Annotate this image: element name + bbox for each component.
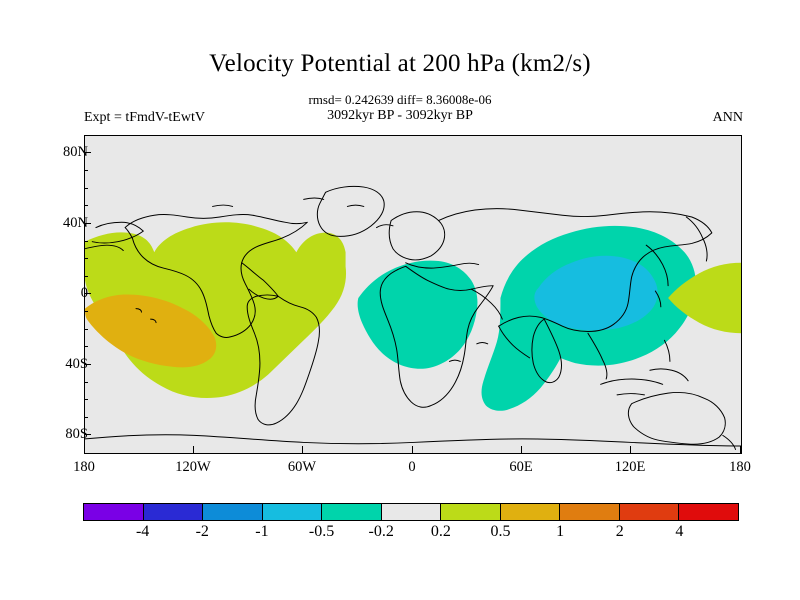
x-tick-120w [193,446,194,453]
y-tick-minor [84,258,88,259]
x-tick-0 [412,446,413,453]
y-axis-label-80s: 80S [65,426,88,443]
colorbar-segment [84,504,143,520]
x-tick-60w [302,446,303,453]
x-axis-label-60w: 60W [288,459,316,476]
y-tick-minor [84,382,88,383]
x-tick-180e [740,446,741,453]
x-axis-label-180w: 180 [73,459,95,476]
period-label: 3092kyr BP - 3092kyr BP [0,108,800,124]
y-tick-minor [84,417,88,418]
colorbar-segment [321,504,381,520]
colorbar-tick: -0.2 [369,523,394,541]
statistics-line: rmsd= 0.242639 diff= 8.36008e-06 [0,92,800,108]
x-tick-60e [521,446,522,453]
colorbar-tick-labels: -4-2-1-0.5-0.20.20.5124 [83,521,739,543]
colorbar-segments [83,503,739,521]
colorbar-segment [381,504,441,520]
x-axis-label-60e: 60E [509,459,532,476]
x-tick-120e [630,446,631,453]
colorbar-tick: -0.5 [309,523,334,541]
y-tick-minor [84,188,88,189]
colorbar-segment [262,504,322,520]
colorbar-tick: 4 [675,523,683,541]
page-title: Velocity Potential at 200 hPa (km2/s) [0,50,800,78]
y-tick-minor [84,276,88,277]
colorbar-tick: 0.5 [490,523,510,541]
colorbar [83,503,739,521]
colorbar-segment [678,504,738,520]
y-tick-minor [84,241,88,242]
colorbar-tick: 0.2 [431,523,451,541]
colorbar-tick: -4 [136,523,149,541]
map-svg [85,136,741,453]
x-axis-label-0: 0 [408,459,415,476]
y-axis-label-0: 0 [81,285,88,302]
colorbar-segment [440,504,500,520]
x-axis-label-120w: 120W [175,459,210,476]
y-tick-minor [84,329,88,330]
x-axis-label-180e: 180 [729,459,751,476]
y-tick-minor [84,205,88,206]
colorbar-tick: -2 [196,523,209,541]
colorbar-segment [143,504,203,520]
map-plot-area [84,135,742,454]
figure-root: Velocity Potential at 200 hPa (km2/s) rm… [0,0,800,600]
colorbar-tick: -1 [255,523,268,541]
colorbar-tick: 1 [556,523,564,541]
y-tick-minor [84,170,88,171]
colorbar-segment [500,504,560,520]
y-axis-label-40n: 40N [63,215,88,232]
colorbar-segment [202,504,262,520]
colorbar-segment [619,504,679,520]
y-tick-minor [84,311,88,312]
colorbar-tick: 2 [616,523,624,541]
x-axis-label-120e: 120E [615,459,646,476]
colorbar-segment [559,504,619,520]
x-tick-180w [84,446,85,453]
season-label: ANN [713,110,743,126]
y-axis-label-40s: 40S [65,356,88,373]
y-tick-minor [84,399,88,400]
y-axis-label-80n: 80N [63,144,88,161]
y-tick-minor [84,346,88,347]
